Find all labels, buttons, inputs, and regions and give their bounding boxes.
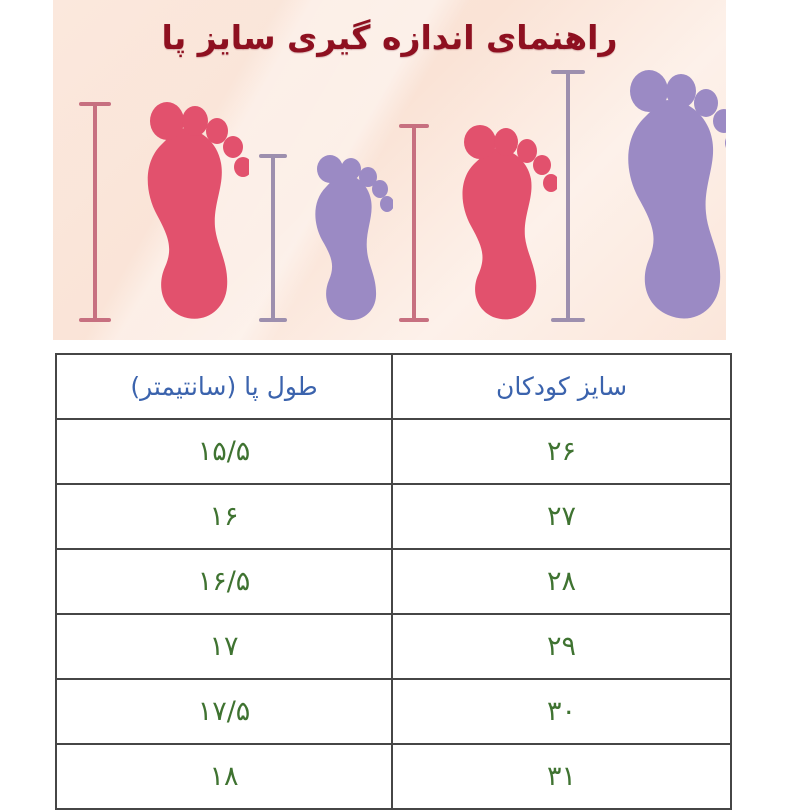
footprint-4-purple bbox=[607, 64, 726, 322]
cell-kids-size: ۲۶ bbox=[392, 419, 731, 484]
table-row: ۲۶ ۱۵/۵ bbox=[56, 419, 731, 484]
foot-group-4 bbox=[545, 60, 726, 322]
table-row: ۳۰ ۱۷/۵ bbox=[56, 679, 731, 744]
shoe-size-table: سایز کودکان طول پا (سانتیمتر) ۲۶ ۱۵/۵ ۲۷… bbox=[55, 353, 732, 810]
measure-bar-2 bbox=[259, 154, 287, 322]
cell-kids-size: ۳۰ bbox=[392, 679, 731, 744]
column-header-kids-size: سایز کودکان bbox=[392, 354, 731, 419]
footprint-2-purple bbox=[301, 150, 393, 322]
cell-foot-length: ۱۷ bbox=[56, 614, 392, 679]
measure-bar-4 bbox=[551, 70, 585, 322]
cell-foot-length: ۱۷/۵ bbox=[56, 679, 392, 744]
cell-kids-size: ۲۷ bbox=[392, 484, 731, 549]
foot-group-3 bbox=[393, 117, 563, 322]
header-banner: راهنمای اندازه گیری سایز پا bbox=[53, 0, 726, 340]
table-row: ۳۱ ۱۸ bbox=[56, 744, 731, 809]
table-row: ۲۷ ۱۶ bbox=[56, 484, 731, 549]
footprint-3-pink bbox=[445, 120, 557, 322]
cell-foot-length: ۱۵/۵ bbox=[56, 419, 392, 484]
cell-foot-length: ۱۶/۵ bbox=[56, 549, 392, 614]
column-header-foot-length: طول پا (سانتیمتر) bbox=[56, 354, 392, 419]
table-row: ۲۹ ۱۷ bbox=[56, 614, 731, 679]
footprint-1-pink bbox=[129, 97, 249, 322]
cell-kids-size: ۳۱ bbox=[392, 744, 731, 809]
cell-kids-size: ۲۸ bbox=[392, 549, 731, 614]
cell-kids-size: ۲۹ bbox=[392, 614, 731, 679]
foot-group-1 bbox=[73, 92, 253, 322]
table-header-row: سایز کودکان طول پا (سانتیمتر) bbox=[56, 354, 731, 419]
foot-group-2 bbox=[253, 147, 393, 322]
cell-foot-length: ۱۶ bbox=[56, 484, 392, 549]
cell-foot-length: ۱۸ bbox=[56, 744, 392, 809]
table-row: ۲۸ ۱۶/۵ bbox=[56, 549, 731, 614]
measure-bar-3 bbox=[399, 124, 429, 322]
foot-illustration-group bbox=[53, 0, 726, 340]
measure-bar-1 bbox=[79, 102, 111, 322]
